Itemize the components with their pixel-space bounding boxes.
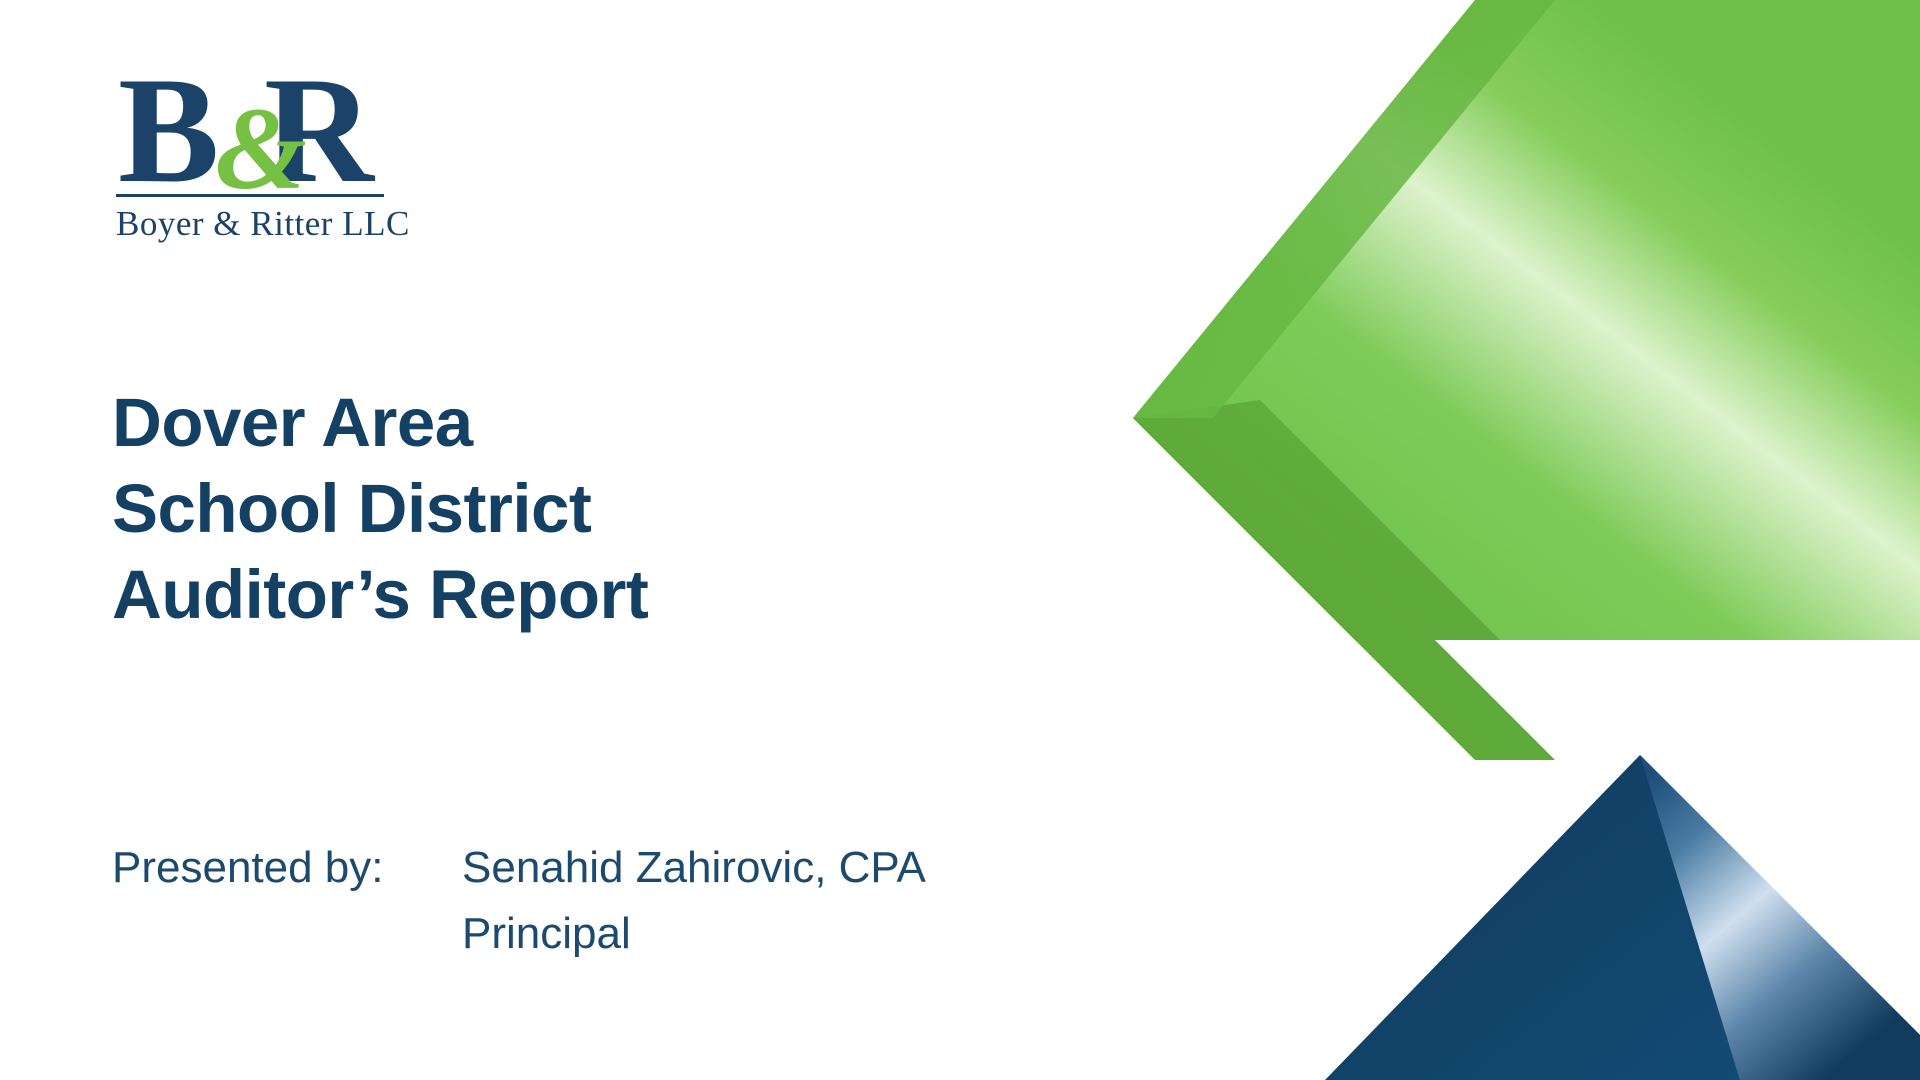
corner-artwork-decoration bbox=[1100, 0, 1920, 1080]
blue-triangle-shape bbox=[1325, 755, 1920, 1080]
green-chevron-crease bbox=[1133, 0, 1555, 418]
logo-letter-b-text: B bbox=[118, 60, 215, 200]
slide-title: Dover Area School District Auditor’s Rep… bbox=[112, 380, 1012, 638]
logo-monogram: B & R Boyer & Ritter LLC bbox=[112, 68, 412, 208]
presenter-role: Principal bbox=[462, 901, 926, 967]
presenter-details: Senahid Zahirovic, CPA Principal bbox=[462, 835, 926, 967]
green-chevron-shape bbox=[1133, 0, 1920, 690]
logo-ampersand-text: & bbox=[215, 90, 307, 208]
presenter-block: Presented by: Senahid Zahirovic, CPA Pri… bbox=[112, 835, 926, 967]
company-logo: B & R Boyer & Ritter LLC bbox=[112, 68, 412, 258]
title-line-2: School District bbox=[112, 466, 1012, 552]
presenter-name: Senahid Zahirovic, CPA bbox=[462, 835, 926, 901]
title-line-3: Auditor’s Report bbox=[112, 552, 1012, 638]
title-line-1: Dover Area bbox=[112, 380, 1012, 466]
green-chevron-lower-band bbox=[1133, 418, 1555, 760]
presentation-slide: B & R Boyer & Ritter LLC Dover Area Scho… bbox=[0, 0, 1920, 1080]
presented-by-label: Presented by: bbox=[112, 835, 462, 901]
